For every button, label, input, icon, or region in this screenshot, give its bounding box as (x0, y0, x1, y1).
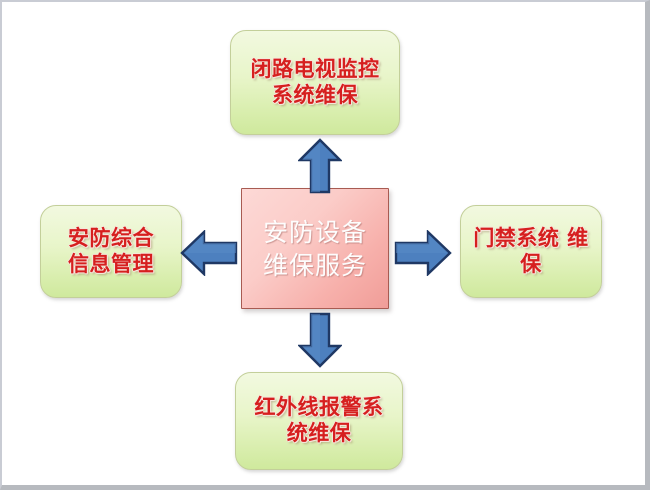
node-right-label: 门禁系统 维 保 (473, 226, 588, 277)
node-bottom[interactable]: 红外线报警系 统维保 (235, 372, 403, 470)
arrow-left-icon (180, 230, 238, 276)
node-top[interactable]: 闭路电视监控 系统维保 (230, 30, 400, 135)
diagram-canvas: 闭路电视监控 系统维保 安防综合 信息管理 门禁系统 维 保 红外线报警系 统维… (0, 0, 650, 490)
node-bottom-label: 红外线报警系 统维保 (255, 395, 384, 446)
arrow-down-icon (298, 312, 342, 368)
arrow-right-icon (394, 230, 452, 276)
node-top-label: 闭路电视监控 系统维保 (251, 57, 380, 108)
node-right[interactable]: 门禁系统 维 保 (460, 205, 602, 298)
node-left[interactable]: 安防综合 信息管理 (40, 205, 182, 298)
arrow-up-icon (298, 138, 342, 194)
center-node-label: 安防设备 维保服务 (263, 216, 367, 282)
node-left-label: 安防综合 信息管理 (68, 226, 154, 277)
center-node[interactable]: 安防设备 维保服务 (241, 188, 389, 309)
